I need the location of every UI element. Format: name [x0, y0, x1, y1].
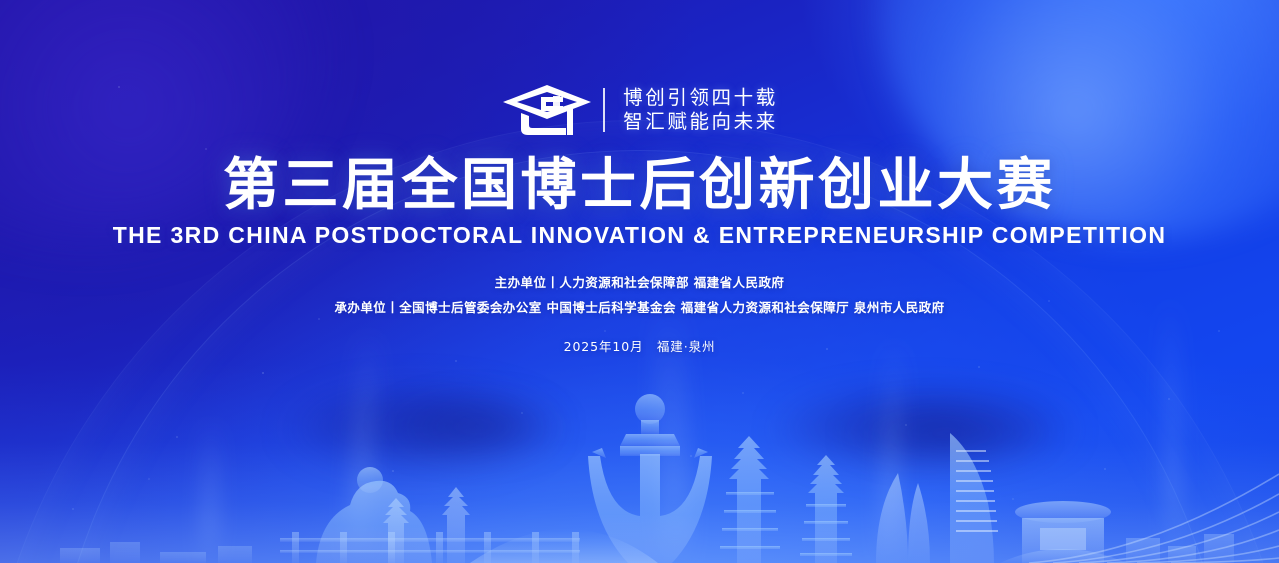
laozi-statue — [316, 467, 432, 563]
cloud-shape-right-2 — [840, 408, 1050, 464]
event-date-location: 2025年10月 福建·泉州 — [0, 336, 1279, 355]
background-hill — [470, 529, 658, 563]
west-pagoda — [800, 455, 852, 563]
city-skyline-silhouette — [0, 388, 1279, 563]
logo-divider — [603, 88, 605, 132]
small-pagoda-left — [383, 487, 470, 563]
left-lowrise-blocks — [60, 542, 252, 563]
cloud-shape-left — [285, 388, 555, 474]
modern-tower-sail — [876, 473, 930, 563]
cloud-shape-right — [775, 392, 1075, 472]
slogan-block: 博创引领四十载 智汇赋能向未来 — [623, 86, 778, 134]
stadium-arena — [1000, 501, 1126, 563]
coorganizer-line: 承办单位丨全国博士后管委会办公室 中国博士后科学基金会 福建省人力资源和社会保障… — [0, 296, 1279, 320]
event-poster: 博创引领四十载 智汇赋能向未来 第三届全国博士后创新创业大赛 THE 3RD C… — [0, 0, 1279, 563]
logo-lockup: 博创引领四十载 智汇赋能向未来 — [0, 82, 1279, 138]
diagonal-light-streaks — [1019, 378, 1279, 563]
slogan-line-1: 博创引领四十载 — [623, 86, 778, 110]
host-organizer-line: 主办单位丨人力资源和社会保障部 福建省人民政府 — [0, 271, 1279, 295]
page-title-en: THE 3RD CHINA POSTDOCTORAL INNOVATION & … — [0, 222, 1279, 249]
graduation-cap-logo-icon — [501, 83, 593, 137]
central-monument — [588, 394, 712, 563]
right-lowrise-blocks — [1126, 534, 1234, 563]
high-rise-tower — [950, 433, 998, 563]
railing-fence — [280, 532, 580, 563]
slogan-line-2: 智汇赋能向未来 — [623, 110, 778, 134]
light-shaft-5 — [199, 420, 221, 563]
poster-content: 博创引领四十载 智汇赋能向未来 第三届全国博士后创新创业大赛 THE 3RD C… — [0, 0, 1279, 355]
light-shaft-1 — [344, 329, 382, 560]
page-title-cn: 第三届全国博士后创新创业大赛 — [0, 156, 1279, 216]
east-pagoda — [720, 436, 780, 563]
ground-haze — [0, 363, 1279, 563]
organizers-block: 主办单位丨人力资源和社会保障部 福建省人民政府 承办单位丨全国博士后管委会办公室… — [0, 271, 1279, 320]
light-shaft-3 — [876, 340, 906, 561]
cloud-shape-left-2 — [380, 400, 570, 458]
